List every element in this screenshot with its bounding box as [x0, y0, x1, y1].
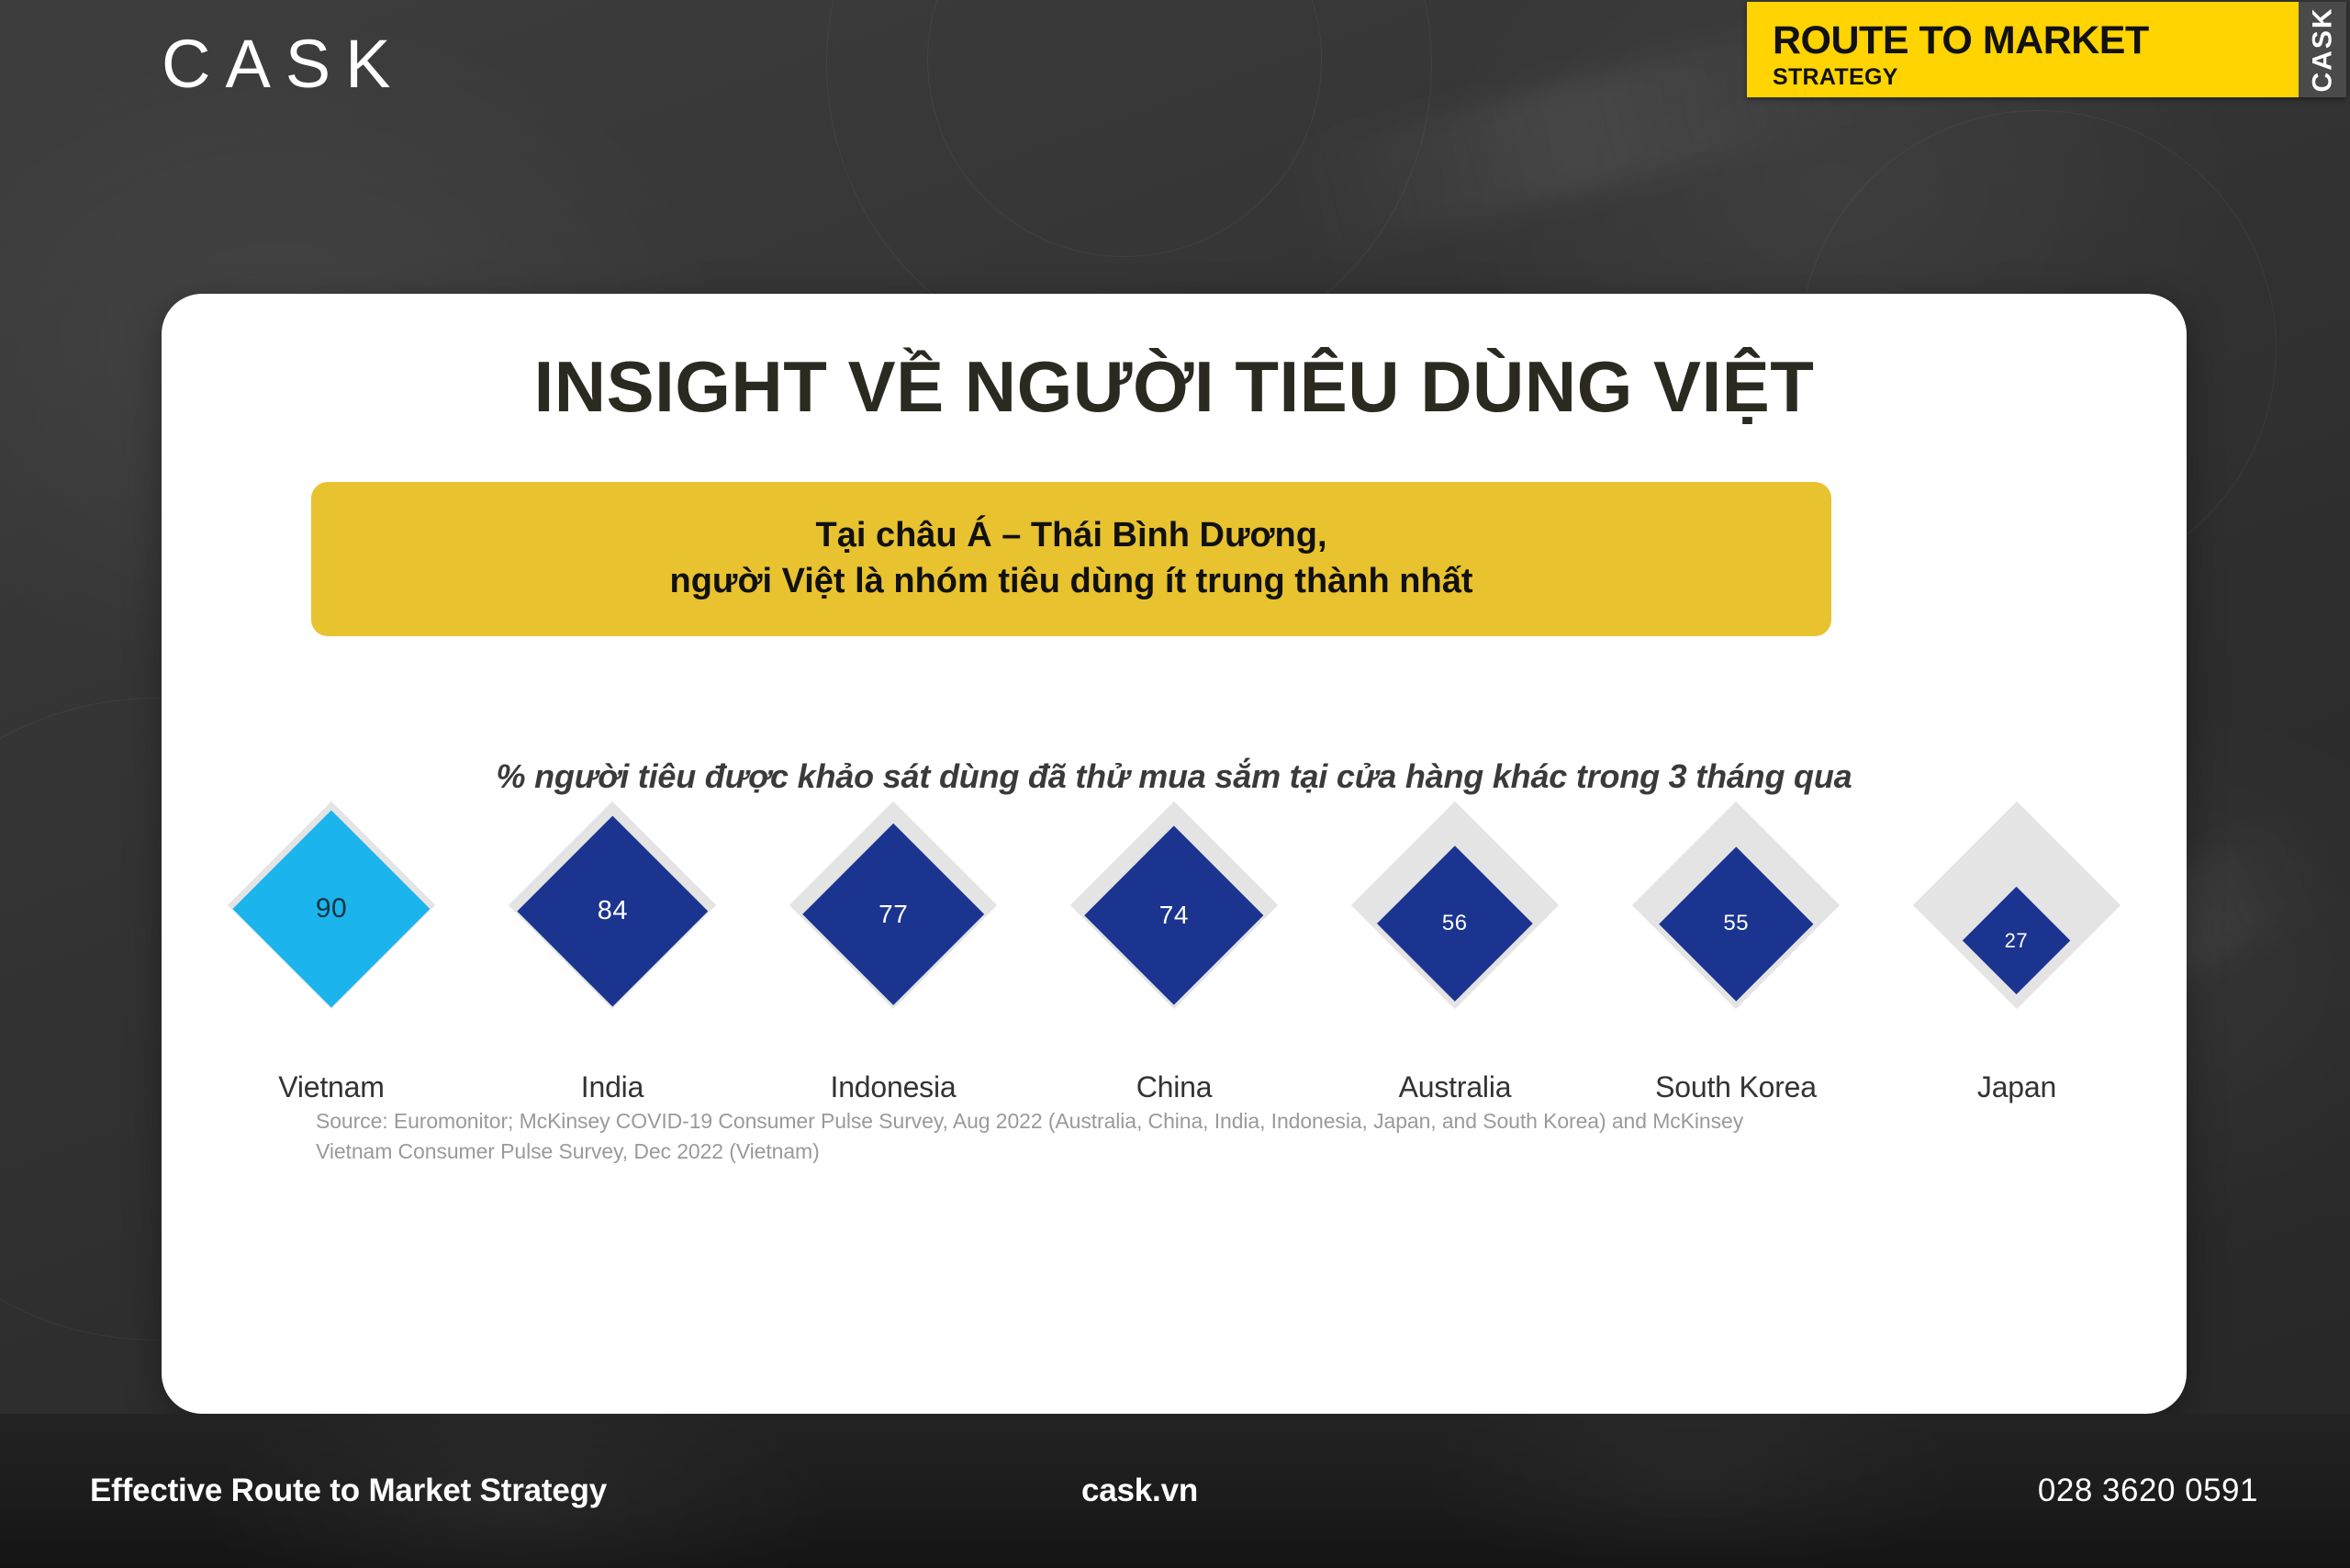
- diamond-value-label: 27: [2005, 928, 2028, 952]
- diamond-stack: 74: [1034, 826, 1315, 1065]
- diamond-value-label: 55: [1723, 912, 1749, 937]
- diamond-value-label: 90: [316, 893, 347, 924]
- diamond-category-label: Japan: [1876, 1070, 2157, 1104]
- diamond-stack: 77: [753, 826, 1034, 1065]
- diamond-category-label: China: [1034, 1070, 1315, 1104]
- badge-side-strip: CASK: [2299, 2, 2346, 97]
- content-card: INSIGHT VỀ NGƯỜI TIÊU DÙNG VIỆT Tại châu…: [162, 294, 2187, 1414]
- diamond-value: 84: [517, 816, 707, 1006]
- footer-phone[interactable]: 028 3620 0591: [2038, 1473, 2258, 1509]
- diamond-value-label: 77: [878, 900, 908, 929]
- key-message-banner: Tại châu Á – Thái Bình Dương, người Việt…: [311, 482, 1831, 636]
- diamond-stack: 27: [1876, 826, 2157, 1065]
- chart-title: % người tiêu được khảo sát dùng đã thử m…: [162, 757, 2187, 796]
- cask-logo: CASK: [162, 30, 406, 98]
- page-title: INSIGHT VỀ NGƯỜI TIÊU DÙNG VIỆT: [162, 351, 2187, 422]
- diamond-value-label: 56: [1442, 911, 1468, 936]
- diamond-group: 77Indonesia: [753, 826, 1034, 1102]
- diamond-group: 84India: [472, 826, 753, 1102]
- badge-title: ROUTE TO MARKET: [1773, 21, 2299, 61]
- diamond-value-label: 74: [1159, 901, 1189, 930]
- diamond-group: 27Japan: [1876, 826, 2157, 1102]
- diamond-group: 90Vietnam: [191, 826, 472, 1102]
- diamond-value: 77: [802, 823, 985, 1006]
- page-footer: Effective Route to Market Strategy cask.…: [0, 1414, 2350, 1568]
- diamond-stack: 84: [472, 826, 753, 1065]
- badge-yellow-panel: ROUTE TO MARKET STRATEGY: [1747, 2, 2299, 97]
- diamond-category-label: India: [472, 1070, 753, 1104]
- diamond-group: 56Australia: [1315, 826, 1595, 1102]
- diamond-value: 90: [233, 811, 431, 1008]
- diamond-value-label: 84: [597, 896, 627, 926]
- diamond-chart: 90Vietnam84India77Indonesia74China56Aust…: [189, 826, 2159, 1102]
- diamond-group: 74China: [1034, 826, 1315, 1102]
- banner-line-1: Tại châu Á – Thái Bình Dương,: [815, 516, 1326, 556]
- diamond-category-label: South Korea: [1595, 1070, 1876, 1104]
- source-note: Source: Euromonitor; McKinsey COVID-19 C…: [316, 1106, 1821, 1168]
- diamond-stack: 55: [1595, 826, 1876, 1065]
- badge-side-label: CASK: [2307, 6, 2338, 92]
- diamond-group: 55South Korea: [1595, 826, 1876, 1102]
- diamond-category-label: Indonesia: [753, 1070, 1034, 1104]
- diamond-stack: 90: [191, 826, 472, 1065]
- diamond-category-label: Vietnam: [191, 1070, 472, 1104]
- badge-subtitle: STRATEGY: [1773, 63, 2299, 91]
- diamond-category-label: Australia: [1315, 1070, 1595, 1104]
- route-to-market-badge: ROUTE TO MARKET STRATEGY CASK: [1747, 2, 2346, 97]
- banner-line-2: người Việt là nhóm tiêu dùng ít trung th…: [670, 562, 1473, 602]
- footer-website[interactable]: cask.vn: [1081, 1473, 1198, 1509]
- diamond-value: 74: [1085, 826, 1264, 1005]
- footer-tagline: Effective Route to Market Strategy: [90, 1473, 607, 1509]
- diamond-stack: 56: [1315, 826, 1595, 1065]
